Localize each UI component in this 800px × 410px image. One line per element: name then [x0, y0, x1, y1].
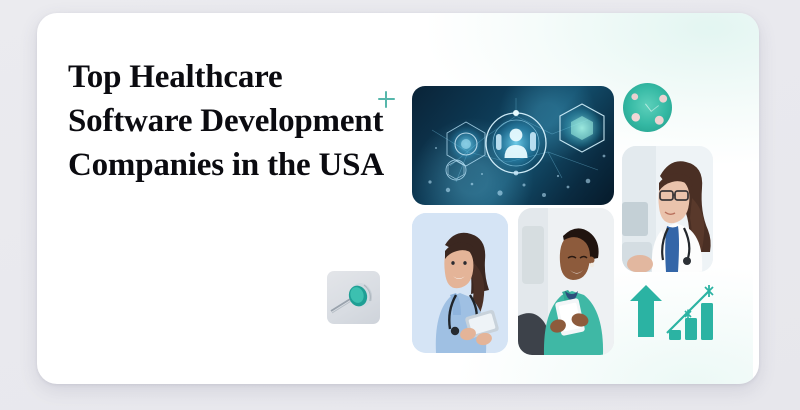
growth-chart-glyph	[629, 281, 717, 355]
device-notch	[644, 98, 658, 112]
screenshot-stage: Top Healthcare Software Development Comp…	[0, 0, 800, 410]
doctor-portrait-illustration	[622, 146, 713, 272]
nurse-phone-illustration	[518, 208, 614, 355]
growth-chart-icon	[629, 281, 717, 355]
image-tech-health-network	[412, 86, 614, 205]
hero-card: Top Healthcare Software Development Comp…	[37, 13, 759, 384]
image-nurse-with-tablet	[412, 213, 508, 353]
medical-instrument-illustration	[327, 271, 380, 324]
plus-icon	[378, 91, 395, 108]
page-title: Top Healthcare Software Development Comp…	[68, 55, 398, 187]
image-nurse-with-phone	[518, 208, 614, 355]
nurse-tablet-illustration	[412, 213, 508, 353]
image-teal-medical-device-circle	[623, 83, 672, 132]
image-doctor-with-glasses	[622, 146, 713, 272]
image-medical-instrument-thumbnail	[327, 271, 380, 324]
tech-network-illustration	[412, 86, 614, 205]
